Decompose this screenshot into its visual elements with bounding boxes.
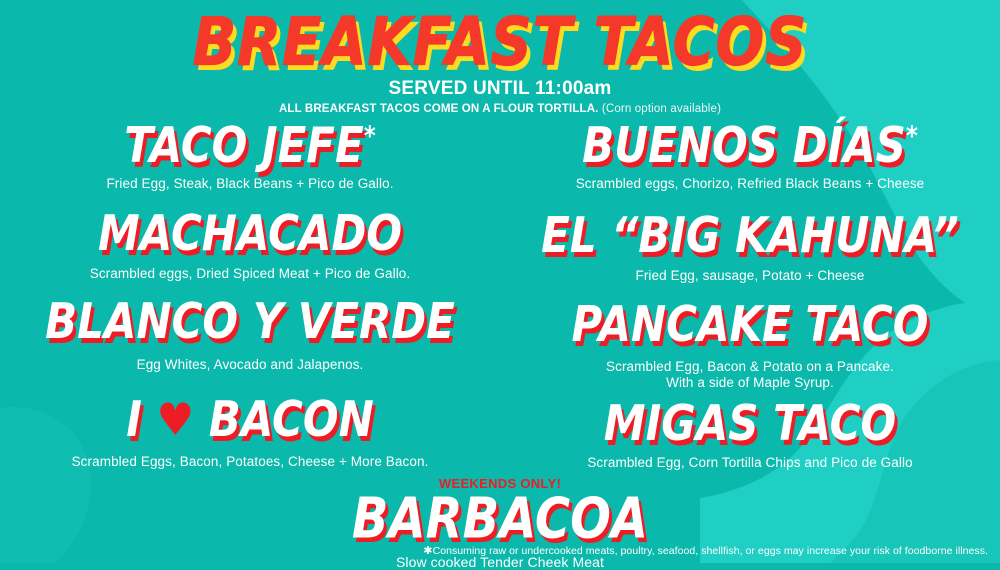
tortilla-note: ALL BREAKFAST TACOS COME ON A FLOUR TORT… xyxy=(0,103,1000,115)
menu-item-name: I ♥ BACON xyxy=(0,395,500,444)
menu-item-description: Scrambled Eggs, Bacon, Potatoes, Cheese … xyxy=(0,454,500,470)
asterisk-marker: * xyxy=(906,122,918,152)
menu-item-name: EL “BIG KAHUNA” xyxy=(500,212,1000,261)
menu-item-description: Scrambled eggs, Dried Spiced Meat + Pico… xyxy=(0,266,500,282)
menu-item-i-love-bacon[interactable]: I ♥ BACON Scrambled Eggs, Bacon, Potatoe… xyxy=(0,399,500,470)
menu-item-name: BARBACOA xyxy=(0,491,1000,547)
page-title: BREAKFAST TACOS xyxy=(0,10,1000,76)
menu-item-description: Egg Whites, Avocado and Jalapenos. xyxy=(0,357,500,373)
menu-item-machacado[interactable]: MACHACADO Scrambled eggs, Dried Spiced M… xyxy=(0,213,500,282)
menu-item-blanco-y-verde[interactable]: BLANCO Y VERDE Egg Whites, Avocado and J… xyxy=(0,301,500,373)
menu-column-right: BUENOS DÍAS* Scrambled eggs, Chorizo, Re… xyxy=(500,125,1000,471)
menu-item-buenos-dias[interactable]: BUENOS DÍAS* Scrambled eggs, Chorizo, Re… xyxy=(500,125,1000,192)
menu-item-description: Scrambled Egg, Bacon & Potato on a Panca… xyxy=(500,359,1000,391)
menu-board: BREAKFAST TACOS SERVED UNTIL 11:00am ALL… xyxy=(0,0,1000,563)
menu-item-description: Scrambled Egg, Corn Tortilla Chips and P… xyxy=(500,455,1000,471)
menu-item-migas-taco[interactable]: MIGAS TACO Scrambled Egg, Corn Tortilla … xyxy=(500,403,1000,471)
allergen-footnote: ✱Consuming raw or undercooked meats, pou… xyxy=(423,544,988,557)
allergen-footnote-text: Consuming raw or undercooked meats, poul… xyxy=(433,545,988,557)
menu-header: BREAKFAST TACOS SERVED UNTIL 11:00am ALL… xyxy=(0,0,1000,115)
menu-item-name: PANCAKE TACO xyxy=(500,300,1000,349)
tortilla-note-bold: ALL BREAKFAST TACOS COME ON A FLOUR TORT… xyxy=(279,103,599,115)
menu-item-pancake-taco[interactable]: PANCAKE TACO Scrambled Egg, Bacon & Pota… xyxy=(500,304,1000,391)
menu-item-name: BLANCO Y VERDE xyxy=(0,297,500,346)
menu-item-description: Fried Egg, Steak, Black Beans + Pico de … xyxy=(0,176,500,192)
menu-item-el-big-kahuna[interactable]: EL “BIG KAHUNA” Fried Egg, sausage, Pota… xyxy=(500,215,1000,284)
menu-item-name: MIGAS TACO xyxy=(500,399,1000,448)
asterisk-marker: * xyxy=(364,122,376,152)
menu-item-description: Scrambled eggs, Chorizo, Refried Black B… xyxy=(500,176,1000,192)
menu-item-name: MACHACADO xyxy=(0,210,500,259)
menu-item-description: Fried Egg, sausage, Potato + Cheese xyxy=(500,268,1000,284)
served-until-text: SERVED UNTIL 11:00am xyxy=(0,78,1000,100)
menu-item-taco-jefe[interactable]: TACO JEFE* Fried Egg, Steak, Black Beans… xyxy=(0,125,500,192)
menu-item-name: TACO JEFE* xyxy=(0,122,500,171)
menu-column-left: TACO JEFE* Fried Egg, Steak, Black Beans… xyxy=(0,125,500,471)
asterisk-icon: ✱ xyxy=(423,545,432,557)
heart-icon: ♥ xyxy=(157,397,195,442)
menu-columns: TACO JEFE* Fried Egg, Steak, Black Beans… xyxy=(0,125,1000,471)
tortilla-note-light: (Corn option available) xyxy=(602,103,721,115)
menu-item-name: BUENOS DÍAS* xyxy=(500,122,1000,171)
